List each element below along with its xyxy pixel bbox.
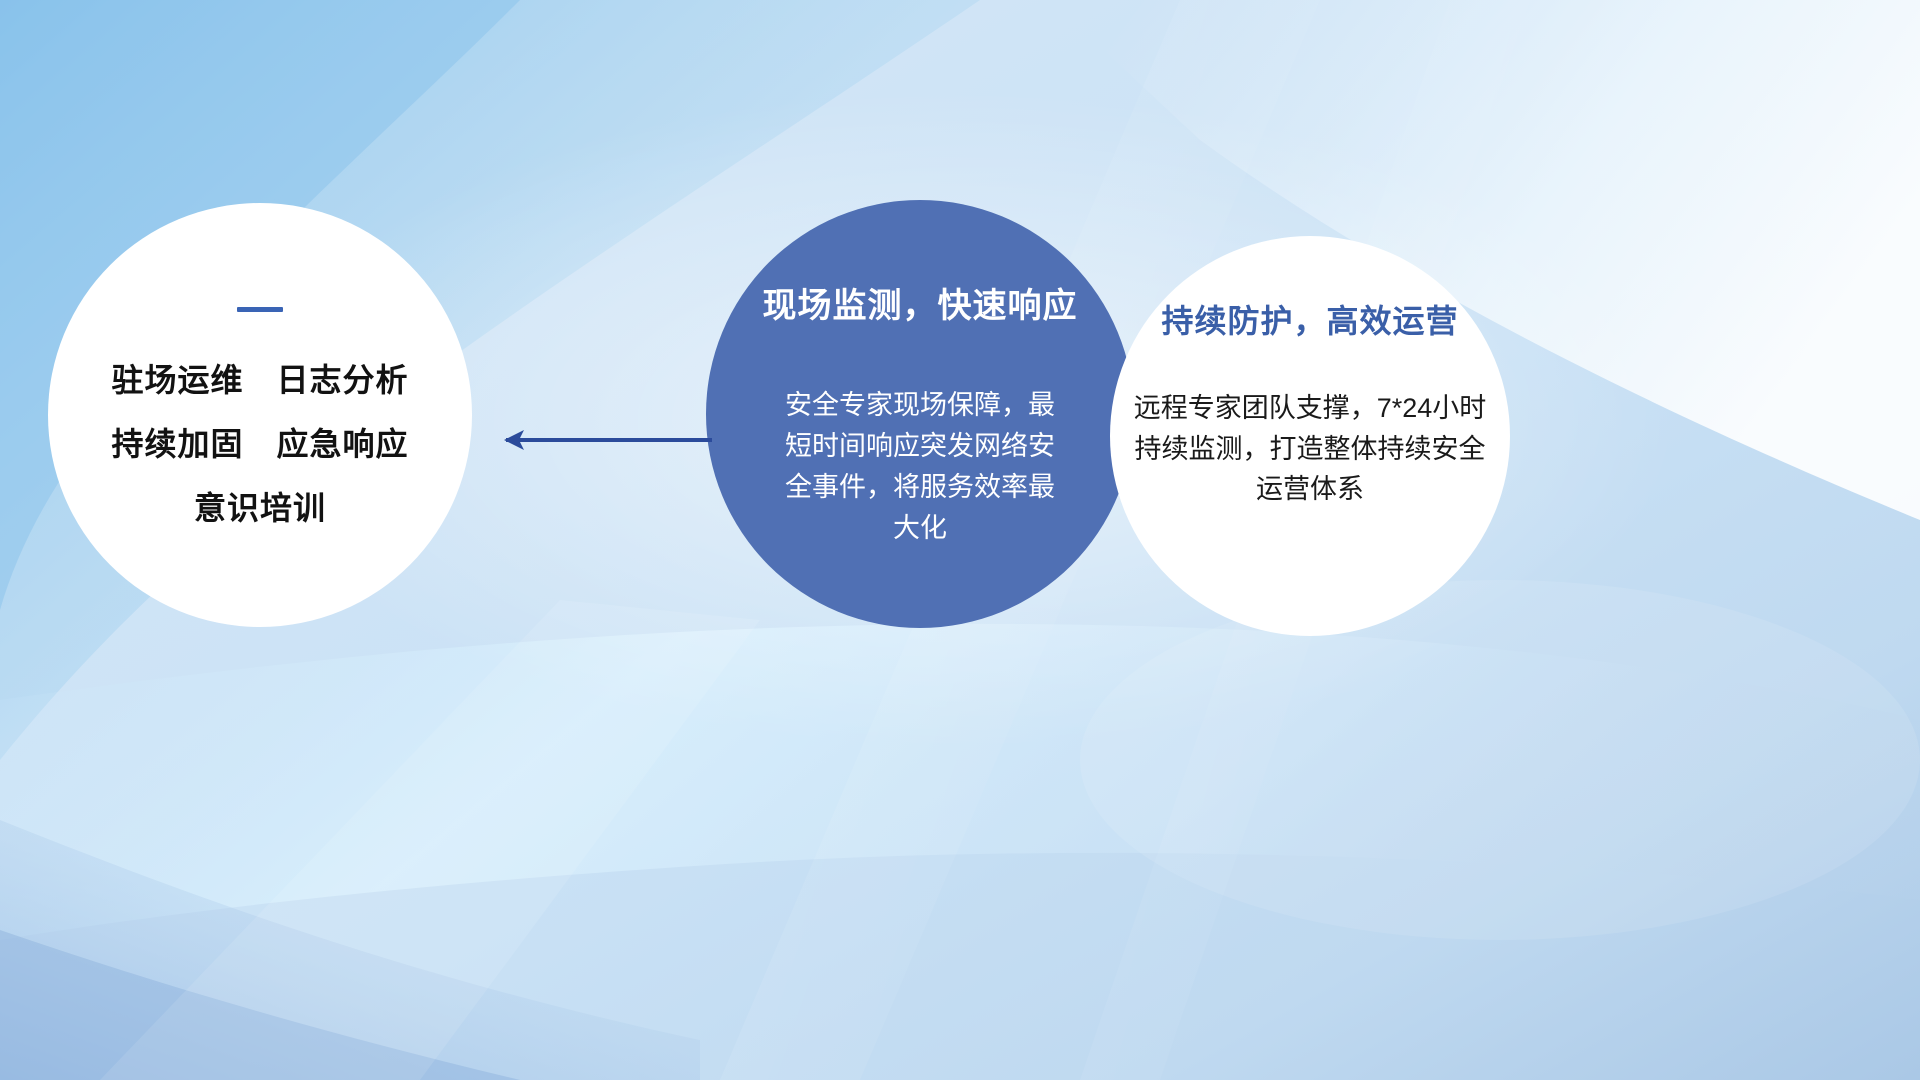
arrow-left-icon: [504, 430, 712, 450]
continuous-protection-heading: 持续防护，高效运营: [1161, 296, 1458, 342]
onsite-monitoring-card[interactable]: 现场监测，快速响应 安全专家现场保障，最短时间响应突发网络安全事件，将服务效率最…: [706, 200, 1134, 628]
keyword-line-2: 持续加固 应急响应: [80, 428, 440, 460]
keywords-inner: 驻场运维 日志分析 持续加固 应急响应 意识培训: [80, 307, 440, 524]
onsite-monitoring-heading: 现场监测，快速响应: [763, 278, 1078, 327]
leftward-arrow-connector: [480, 415, 716, 465]
horizontal-dash-icon: [237, 307, 283, 312]
continuous-protection-body: 远程专家团队支撑，7*24小时持续监测，打造整体持续安全运营体系: [1124, 388, 1496, 510]
onsite-monitoring-body: 安全专家现场保障，最短时间响应突发网络安全事件，将服务效率最大化: [774, 385, 1066, 549]
keyword-line-1: 驻场运维 日志分析: [80, 364, 440, 396]
diagram-stage: 驻场运维 日志分析 持续加固 应急响应 意识培训 现场监测，快速响应 安全专家现…: [0, 0, 1920, 1080]
continuous-protection-card[interactable]: 持续防护，高效运营 远程专家团队支撑，7*24小时持续监测，打造整体持续安全运营…: [1110, 236, 1510, 636]
keyword-line-3: 意识培训: [80, 492, 440, 524]
capability-keywords-card[interactable]: 驻场运维 日志分析 持续加固 应急响应 意识培训: [48, 203, 472, 627]
